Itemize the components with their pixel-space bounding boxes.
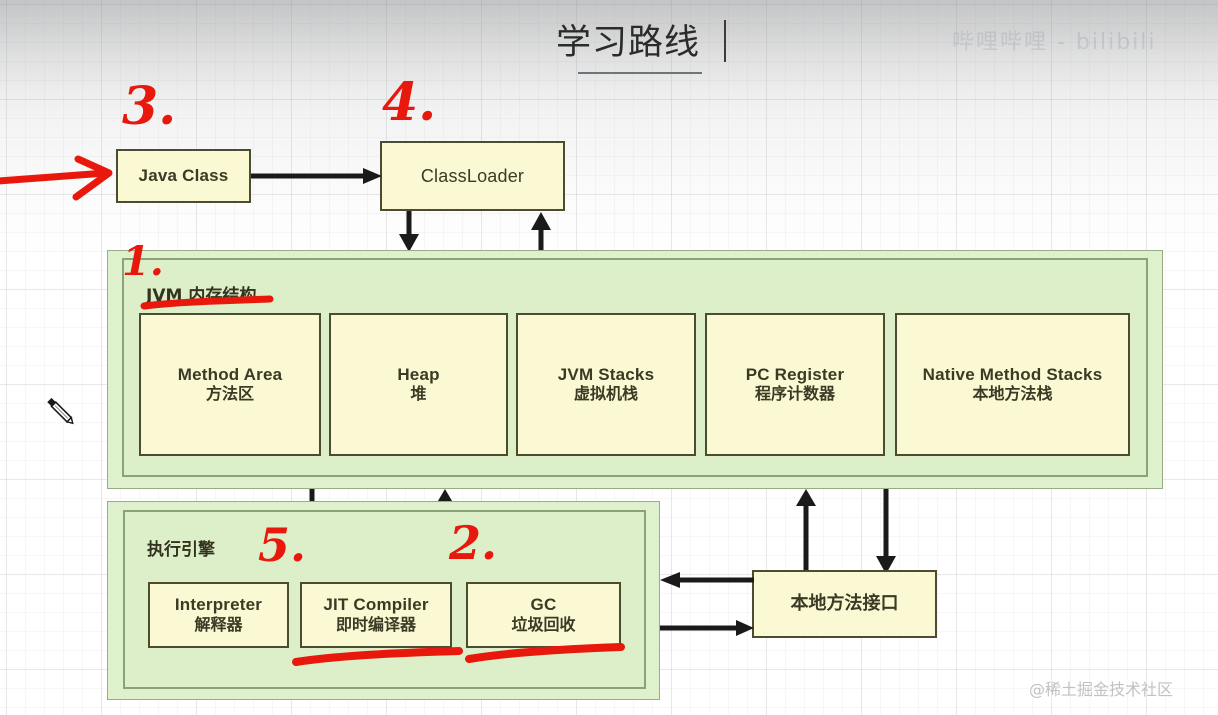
memory-area-pc-register[interactable]: PC Register 程序计数器	[705, 313, 885, 456]
memory-area-cn: 程序计数器	[755, 384, 835, 404]
arrow-javaclass-to-classloader	[251, 168, 383, 184]
annotation-mark-1: 1.	[122, 238, 164, 285]
engine-component-cn: 解释器	[194, 615, 242, 635]
arrow-memory-up-to-classloader	[530, 211, 552, 253]
arrow-engine-to-native-right	[660, 620, 754, 636]
arrow-native-to-engine-left	[660, 572, 754, 588]
page-title: 学习路线	[556, 14, 700, 65]
memory-area-native-method-stacks[interactable]: Native Method Stacks 本地方法栈	[895, 313, 1130, 456]
memory-area-cn: 虚拟机栈	[574, 384, 638, 404]
memory-area-cn: 方法区	[206, 384, 254, 404]
red-underline-jit-compiler	[293, 648, 463, 666]
memory-area-cn: 堆	[410, 384, 426, 404]
native-method-interface-box[interactable]: 本地方法接口	[752, 570, 937, 638]
watermark-top: 哔哩哔哩 - bilibili	[952, 24, 1157, 56]
arrow-classloader-down	[398, 211, 420, 253]
memory-area-en: Heap	[397, 365, 439, 385]
engine-component-en: JIT Compiler	[323, 595, 428, 615]
arrow-native-up-to-memory	[795, 489, 817, 575]
native-method-interface-label: 本地方法接口	[791, 593, 899, 616]
title-text-caret	[724, 20, 726, 62]
pencil-cursor	[40, 392, 80, 437]
memory-area-cn: 本地方法栈	[972, 384, 1052, 404]
class-loader-label: ClassLoader	[421, 166, 524, 187]
java-class-label: Java Class	[139, 166, 229, 186]
engine-component-cn: 垃圾回收	[511, 615, 575, 635]
red-arrow-to-java-class	[0, 155, 120, 203]
engine-component-gc[interactable]: GC 垃圾回收	[466, 582, 621, 648]
engine-component-interpreter[interactable]: Interpreter 解释器	[148, 582, 289, 648]
engine-component-cn: 即时编译器	[336, 615, 416, 635]
engine-component-en: GC	[531, 595, 557, 615]
red-underline-gc	[466, 645, 624, 663]
memory-area-jvm-stacks[interactable]: JVM Stacks 虚拟机栈	[516, 313, 696, 456]
red-underline-jvm-memory	[142, 296, 274, 310]
annotation-mark-4: 4.	[382, 72, 436, 133]
memory-area-en: PC Register	[746, 365, 845, 385]
java-class-box[interactable]: Java Class	[116, 149, 251, 203]
watermark-bottom: @稀土掘金技术社区	[1029, 676, 1173, 700]
class-loader-box[interactable]: ClassLoader	[380, 141, 565, 211]
engine-component-jit-compiler[interactable]: JIT Compiler 即时编译器	[300, 582, 452, 648]
execution-engine-section-label: 执行引擎	[147, 535, 215, 560]
memory-area-method-area[interactable]: Method Area 方法区	[139, 313, 321, 456]
diagram-canvas: 学习路线 哔哩哔哩 - bilibili @稀土掘金技术社区 Java Clas…	[0, 0, 1218, 715]
memory-area-heap[interactable]: Heap 堆	[329, 313, 508, 456]
memory-area-en: Method Area	[178, 365, 283, 385]
annotation-mark-5: 5.	[258, 518, 306, 572]
engine-component-en: Interpreter	[175, 595, 262, 615]
annotation-mark-3: 3.	[122, 76, 176, 137]
arrow-memory-down-to-native	[875, 489, 897, 575]
title-underline	[578, 72, 702, 74]
memory-area-en: Native Method Stacks	[923, 365, 1103, 385]
annotation-mark-2: 2.	[449, 516, 497, 570]
memory-area-en: JVM Stacks	[558, 365, 655, 385]
